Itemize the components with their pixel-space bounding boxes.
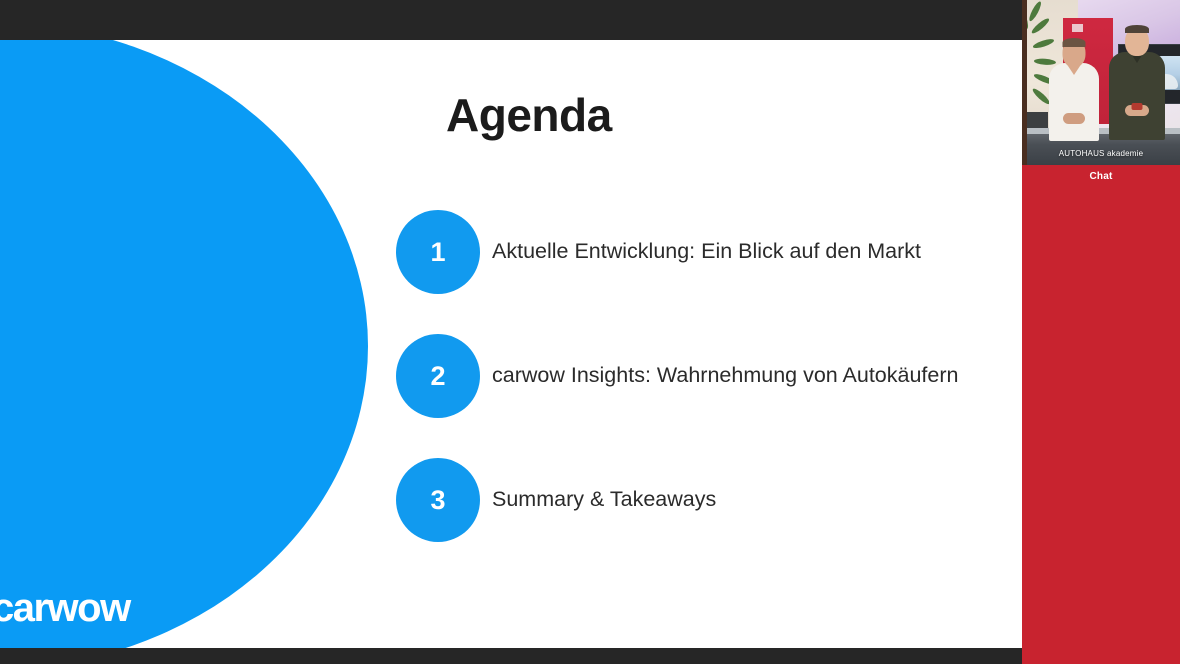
chat-message-list[interactable] xyxy=(1022,191,1180,649)
agenda-number-badge: 2 xyxy=(396,334,480,418)
chat-panel-footer xyxy=(1022,649,1180,664)
presenter-right xyxy=(1108,27,1166,139)
right-sidebar: AUTOHAUS akademie Chat xyxy=(1022,0,1180,664)
presenter-right-torso xyxy=(1109,52,1165,140)
webinar-screen: carwow Agenda 1 Aktuelle Entwicklung: Ei… xyxy=(0,0,1180,664)
presenter-left-hands xyxy=(1063,113,1085,124)
presenter-video-tile[interactable]: AUTOHAUS akademie xyxy=(1022,0,1180,165)
agenda-item-label: carwow Insights: Wahrnehmung von Autokäu… xyxy=(492,363,958,389)
chat-panel-title: Chat xyxy=(1022,171,1180,182)
presentation-slide[interactable]: carwow Agenda 1 Aktuelle Entwicklung: Ei… xyxy=(0,40,1022,648)
banner-logo-mark xyxy=(1072,24,1083,32)
agenda-list: 1 Aktuelle Entwicklung: Ein Blick auf de… xyxy=(396,210,996,582)
agenda-number-badge: 1 xyxy=(396,210,480,294)
presenter-left xyxy=(1048,39,1100,139)
letterbox-top-bar xyxy=(0,0,1022,40)
carwow-logo: carwow xyxy=(0,588,130,628)
letterbox-bottom-bar xyxy=(0,648,1022,664)
video-caption-label: AUTOHAUS akademie xyxy=(1022,149,1180,158)
slide-title: Agenda xyxy=(446,92,612,138)
presenter-right-phone xyxy=(1132,103,1143,110)
agenda-item-label: Aktuelle Entwicklung: Ein Blick auf den … xyxy=(492,239,921,265)
presenter-left-hair xyxy=(1063,38,1086,47)
studio-frame-edge xyxy=(1022,0,1027,165)
agenda-item-label: Summary & Takeaways xyxy=(492,487,716,513)
agenda-item-1: 1 Aktuelle Entwicklung: Ein Blick auf de… xyxy=(396,210,996,334)
agenda-item-3: 3 Summary & Takeaways xyxy=(396,458,996,582)
presenter-right-hair xyxy=(1125,25,1149,33)
decorative-blue-ellipse xyxy=(0,40,368,648)
agenda-number-badge: 3 xyxy=(396,458,480,542)
agenda-item-2: 2 carwow Insights: Wahrnehmung von Autok… xyxy=(396,334,996,458)
chat-panel[interactable]: Chat xyxy=(1022,165,1180,649)
